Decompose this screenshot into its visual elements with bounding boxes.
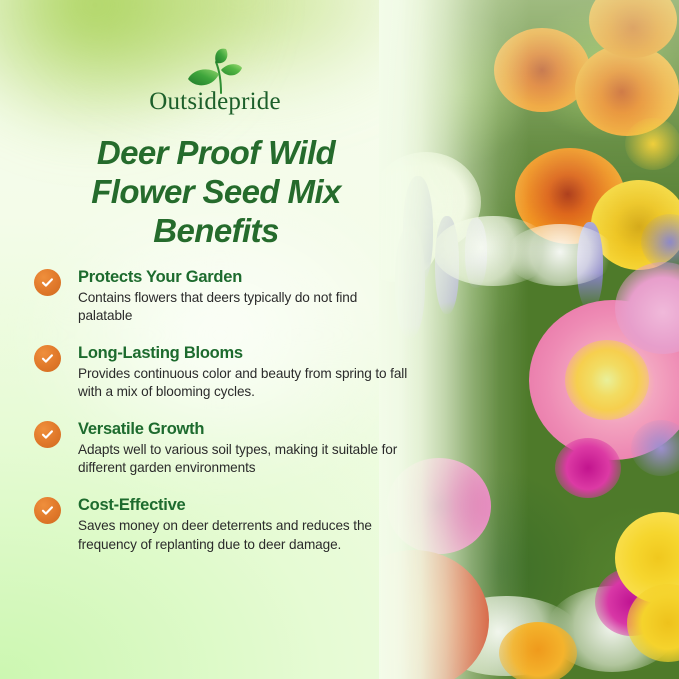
check-circle-icon: [34, 345, 61, 372]
page-title: Deer Proof Wild Flower Seed Mix Benefits: [26, 134, 406, 251]
check-circle-icon: [34, 421, 61, 448]
content-column: Outsidepride Deer Proof Wild Flower Seed…: [0, 0, 430, 679]
benefit-heading: Cost-Effective: [78, 496, 416, 515]
benefits-list: Protects Your Garden Contains flowers th…: [34, 268, 416, 554]
check-circle-icon: [34, 269, 61, 296]
benefit-heading: Long-Lasting Blooms: [78, 344, 416, 363]
brand-name: Outsidepride: [0, 88, 430, 116]
title-line-3: Benefits: [26, 212, 406, 251]
benefit-item: Versatile Growth Adapts well to various …: [34, 420, 416, 477]
check-circle-icon: [34, 497, 61, 524]
benefit-description: Provides continuous color and beauty fro…: [78, 365, 408, 401]
benefit-item: Cost-Effective Saves money on deer deter…: [34, 496, 416, 553]
benefit-heading: Protects Your Garden: [78, 268, 416, 287]
title-line-2: Flower Seed Mix: [26, 173, 406, 212]
benefit-item: Long-Lasting Blooms Provides continuous …: [34, 344, 416, 401]
benefit-item: Protects Your Garden Contains flowers th…: [34, 268, 416, 325]
benefit-description: Contains flowers that deers typically do…: [78, 289, 408, 325]
benefit-description: Saves money on deer deterrents and reduc…: [78, 517, 408, 553]
brand-logo[interactable]: Outsidepride: [0, 48, 430, 116]
infographic-poster: Outsidepride Deer Proof Wild Flower Seed…: [0, 0, 679, 679]
benefit-heading: Versatile Growth: [78, 420, 416, 439]
title-line-1: Deer Proof Wild: [26, 134, 406, 173]
benefit-description: Adapts well to various soil types, makin…: [78, 441, 408, 477]
